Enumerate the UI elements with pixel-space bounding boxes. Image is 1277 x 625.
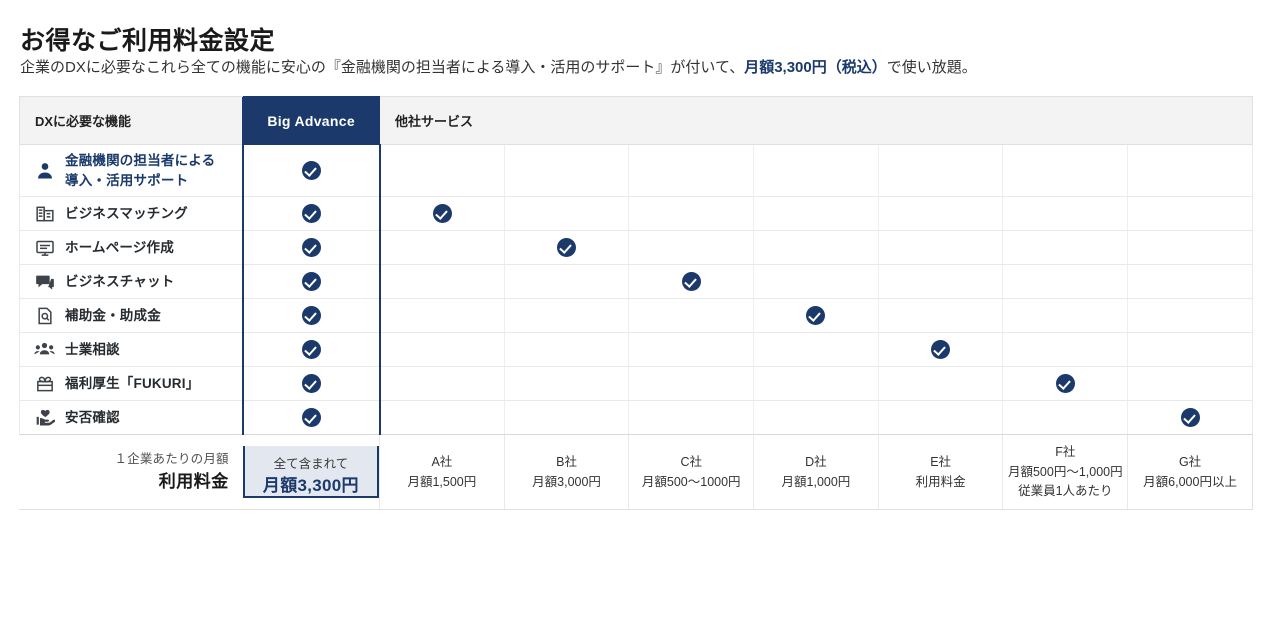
check-icon <box>302 306 321 325</box>
feature-label: 金融機関の担当者による導入・活用サポート <box>65 151 215 190</box>
monitor-icon <box>34 237 55 258</box>
table-row: 安否確認 <box>20 401 1253 435</box>
other-service-check-cell <box>754 231 879 265</box>
other-service-check-cell <box>504 197 629 231</box>
feature-cell: ビジネスチャット <box>20 265 243 299</box>
hand-heart-icon <box>34 407 55 428</box>
feature-cell: 士業相談 <box>20 333 243 367</box>
other-service-check-cell <box>754 145 879 197</box>
page-title: お得なご利用料金設定 <box>20 21 275 57</box>
other-service-check-cell <box>754 401 879 435</box>
feature-label: 福利厚生「FUKURI」 <box>65 374 199 394</box>
big-advance-check-cell <box>243 367 380 401</box>
other-service-check-cell <box>629 145 754 197</box>
other-service-check-cell <box>878 401 1003 435</box>
check-icon <box>302 340 321 359</box>
other-service-check-cell <box>878 197 1003 231</box>
person-support-icon <box>34 160 55 181</box>
table-header: DXに必要な機能 Big Advance 他社サービス <box>20 97 1253 145</box>
check-icon <box>931 340 950 359</box>
subtitle-text-pre: 企業のDXに必要なこれら全ての機能に安心の『金融機関の担当者による導入・活用のサ… <box>20 59 744 76</box>
table-row: 士業相談 <box>20 333 1253 367</box>
header-other-services-column: 他社サービス <box>380 97 1253 145</box>
other-service-check-cell <box>1003 145 1128 197</box>
footer-other-price-cell: A社月額1,500円 <box>380 435 505 510</box>
other-service-check-cell <box>1003 299 1128 333</box>
footer-other-name: B社 <box>505 452 629 473</box>
footer-feature-sub: １企業あたりの月額 <box>20 449 229 469</box>
feature-label: ビジネスマッチング <box>65 204 188 224</box>
other-service-check-cell <box>629 231 754 265</box>
footer-other-price: 月額500〜1000円 <box>629 473 753 492</box>
table-body: 金融機関の担当者による導入・活用サポートビジネスマッチングホームページ作成ビジネ… <box>20 145 1253 435</box>
big-advance-check-cell <box>243 145 380 197</box>
subtitle-text-post: で使い放題。 <box>887 59 977 76</box>
table-row: ビジネスマッチング <box>20 197 1253 231</box>
other-service-check-cell <box>1128 231 1253 265</box>
big-advance-check-cell <box>243 333 380 367</box>
footer-other-price: 利用料金 <box>879 473 1003 492</box>
people-group-icon <box>34 339 55 360</box>
footer-other-name: E社 <box>879 452 1003 473</box>
big-advance-check-cell <box>243 299 380 333</box>
other-service-check-cell <box>504 231 629 265</box>
header-big-advance-column: Big Advance <box>243 97 380 145</box>
other-service-check-cell <box>754 197 879 231</box>
feature-label: ホームページ作成 <box>65 238 174 258</box>
table-row: 金融機関の担当者による導入・活用サポート <box>20 145 1253 197</box>
page-subtitle: 企業のDXに必要なこれら全ての機能に安心の『金融機関の担当者による導入・活用のサ… <box>20 56 977 77</box>
footer-other-price: 月額3,000円 <box>505 473 629 492</box>
comparison-table: DXに必要な機能 Big Advance 他社サービス 金融機関の担当者による導… <box>19 96 1253 510</box>
check-icon <box>302 408 321 427</box>
feature-cell: 福利厚生「FUKURI」 <box>20 367 243 401</box>
footer-other-name: G社 <box>1128 452 1252 473</box>
other-service-check-cell <box>754 265 879 299</box>
footer-price-row: １企業あたりの月額 利用料金 全て含まれて 月額3,300円 A社月額1,500… <box>20 435 1253 510</box>
footer-other-price-cell: E社利用料金 <box>878 435 1003 510</box>
check-icon <box>1056 374 1075 393</box>
other-service-check-cell <box>504 145 629 197</box>
other-service-check-cell <box>1128 367 1253 401</box>
other-service-check-cell <box>380 197 505 231</box>
check-icon <box>302 161 321 180</box>
other-service-check-cell <box>504 367 629 401</box>
footer-big-advance-sub: 全て含まれて <box>247 455 375 474</box>
check-icon <box>302 374 321 393</box>
other-service-check-cell <box>1128 401 1253 435</box>
table-row: 補助金・助成金 <box>20 299 1253 333</box>
other-service-check-cell <box>1128 333 1253 367</box>
footer-other-price: 月額500円〜1,000円 <box>1003 463 1127 482</box>
other-service-check-cell <box>878 333 1003 367</box>
other-service-check-cell <box>878 265 1003 299</box>
feature-label: ビジネスチャット <box>65 272 174 292</box>
big-advance-check-cell <box>243 265 380 299</box>
other-service-check-cell <box>1003 401 1128 435</box>
other-service-check-cell <box>1003 333 1128 367</box>
other-service-check-cell <box>380 145 505 197</box>
other-service-check-cell <box>1003 265 1128 299</box>
other-service-check-cell <box>878 145 1003 197</box>
other-service-check-cell <box>1128 299 1253 333</box>
footer-other-name: D社 <box>754 452 878 473</box>
footer-other-note: 従業員1人あたり <box>1003 482 1127 501</box>
other-service-check-cell <box>878 231 1003 265</box>
feature-label: 補助金・助成金 <box>65 306 161 326</box>
table-row: ビジネスチャット <box>20 265 1253 299</box>
footer-other-name: F社 <box>1003 442 1127 463</box>
feature-label: 安否確認 <box>65 408 120 428</box>
other-service-check-cell <box>380 299 505 333</box>
building-icon <box>34 203 55 224</box>
gift-icon <box>34 373 55 394</box>
footer-other-name: A社 <box>380 452 504 473</box>
other-service-check-cell <box>878 299 1003 333</box>
big-advance-check-cell <box>243 231 380 265</box>
other-service-check-cell <box>1128 265 1253 299</box>
document-search-icon <box>34 305 55 326</box>
other-service-check-cell <box>878 367 1003 401</box>
check-icon <box>682 272 701 291</box>
footer-other-price-cell: D社月額1,000円 <box>754 435 879 510</box>
other-service-check-cell <box>1003 231 1128 265</box>
footer-other-price: 月額6,000円以上 <box>1128 473 1252 492</box>
footer-big-advance-price: 全て含まれて 月額3,300円 <box>243 435 380 510</box>
comparison-table-wrapper: DXに必要な機能 Big Advance 他社サービス 金融機関の担当者による導… <box>19 96 1253 510</box>
check-icon <box>433 204 452 223</box>
check-icon <box>302 238 321 257</box>
check-icon <box>806 306 825 325</box>
header-feature-column: DXに必要な機能 <box>20 97 243 145</box>
footer-feature-main: 利用料金 <box>20 469 229 495</box>
subtitle-price-highlight: 月額3,300円（税込） <box>744 59 887 76</box>
feature-cell: 金融機関の担当者による導入・活用サポート <box>20 145 243 197</box>
other-service-check-cell <box>1003 197 1128 231</box>
footer-other-price: 月額1,500円 <box>380 473 504 492</box>
other-service-check-cell <box>504 265 629 299</box>
check-icon <box>557 238 576 257</box>
big-advance-check-cell <box>243 197 380 231</box>
footer-feature-label: １企業あたりの月額 利用料金 <box>20 435 243 510</box>
other-service-check-cell <box>380 265 505 299</box>
other-service-check-cell <box>380 231 505 265</box>
footer-other-price-cell: G社月額6,000円以上 <box>1128 435 1253 510</box>
other-service-check-cell <box>754 299 879 333</box>
footer-big-advance-box: 全て含まれて 月額3,300円 <box>243 446 379 498</box>
footer-other-price-cell: C社月額500〜1000円 <box>629 435 754 510</box>
other-service-check-cell <box>1128 145 1253 197</box>
other-service-check-cell <box>1003 367 1128 401</box>
other-service-check-cell <box>380 401 505 435</box>
other-service-check-cell <box>504 299 629 333</box>
feature-cell: ホームページ作成 <box>20 231 243 265</box>
table-footer: １企業あたりの月額 利用料金 全て含まれて 月額3,300円 A社月額1,500… <box>20 435 1253 510</box>
feature-cell: 補助金・助成金 <box>20 299 243 333</box>
feature-cell: 安否確認 <box>20 401 243 435</box>
other-service-check-cell <box>504 401 629 435</box>
feature-cell: ビジネスマッチング <box>20 197 243 231</box>
other-service-check-cell <box>1128 197 1253 231</box>
check-icon <box>302 204 321 223</box>
footer-other-price: 月額1,000円 <box>754 473 878 492</box>
check-icon <box>302 272 321 291</box>
footer-other-price-cell: F社月額500円〜1,000円従業員1人あたり <box>1003 435 1128 510</box>
other-service-check-cell <box>380 333 505 367</box>
pricing-comparison-page: お得なご利用料金設定 企業のDXに必要なこれら全ての機能に安心の『金融機関の担当… <box>0 0 1277 625</box>
other-service-check-cell <box>380 367 505 401</box>
other-service-check-cell <box>504 333 629 367</box>
other-service-check-cell <box>629 367 754 401</box>
big-advance-check-cell <box>243 401 380 435</box>
other-service-check-cell <box>629 265 754 299</box>
feature-label: 士業相談 <box>65 340 120 360</box>
other-service-check-cell <box>629 197 754 231</box>
footer-big-advance-main: 月額3,300円 <box>247 474 375 499</box>
table-row: 福利厚生「FUKURI」 <box>20 367 1253 401</box>
footer-other-price-cell: B社月額3,000円 <box>504 435 629 510</box>
other-service-check-cell <box>754 367 879 401</box>
other-service-check-cell <box>629 333 754 367</box>
check-icon <box>1181 408 1200 427</box>
other-service-check-cell <box>754 333 879 367</box>
header-row: DXに必要な機能 Big Advance 他社サービス <box>20 97 1253 145</box>
other-service-check-cell <box>629 299 754 333</box>
other-service-check-cell <box>629 401 754 435</box>
table-row: ホームページ作成 <box>20 231 1253 265</box>
chat-icon <box>34 271 55 292</box>
footer-other-name: C社 <box>629 452 753 473</box>
